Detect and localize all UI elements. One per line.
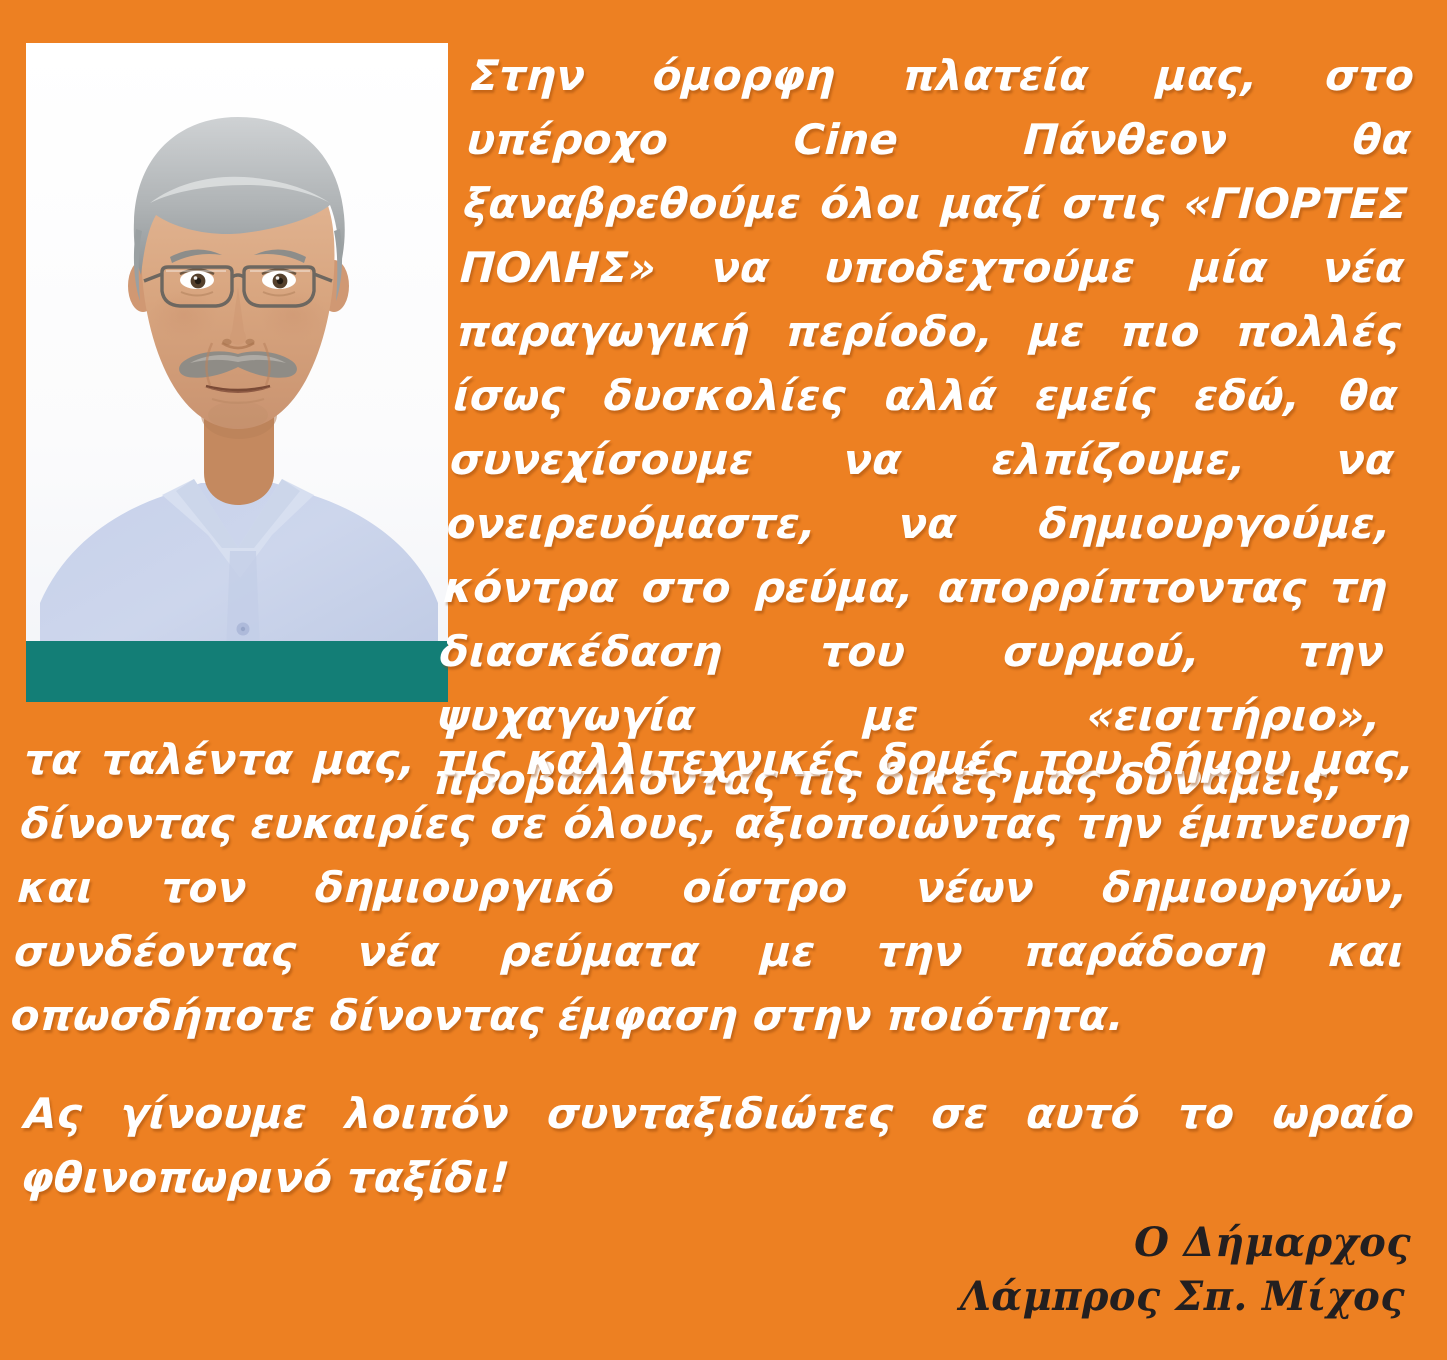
portrait-illustration [26,43,448,702]
photo-teal-accent-bar [26,641,448,702]
poster-root: Στην όμορφη πλατεία μας, στο υπέροχο Cin… [0,0,1447,1360]
mayor-portrait-photo [26,43,448,702]
message-paragraph-top: Στην όμορφη πλατεία μας, στο υπέροχο Cin… [432,44,1416,812]
message-paragraph-wide: τα ταλέντα μας, τις καλλιτεχνικές δομές … [9,728,1416,1048]
message-paragraph-closing: Ας γίνουμε λοιπόν συνταξιδιώτες σε αυτό … [19,1082,1416,1210]
signature-title: Ο Δήμαρχος [771,1216,1411,1270]
signature-name: Λάμπρος Σπ. Μίχος [771,1270,1411,1324]
signature-block: Ο Δήμαρχος Λάμπρος Σπ. Μίχος [771,1216,1411,1324]
